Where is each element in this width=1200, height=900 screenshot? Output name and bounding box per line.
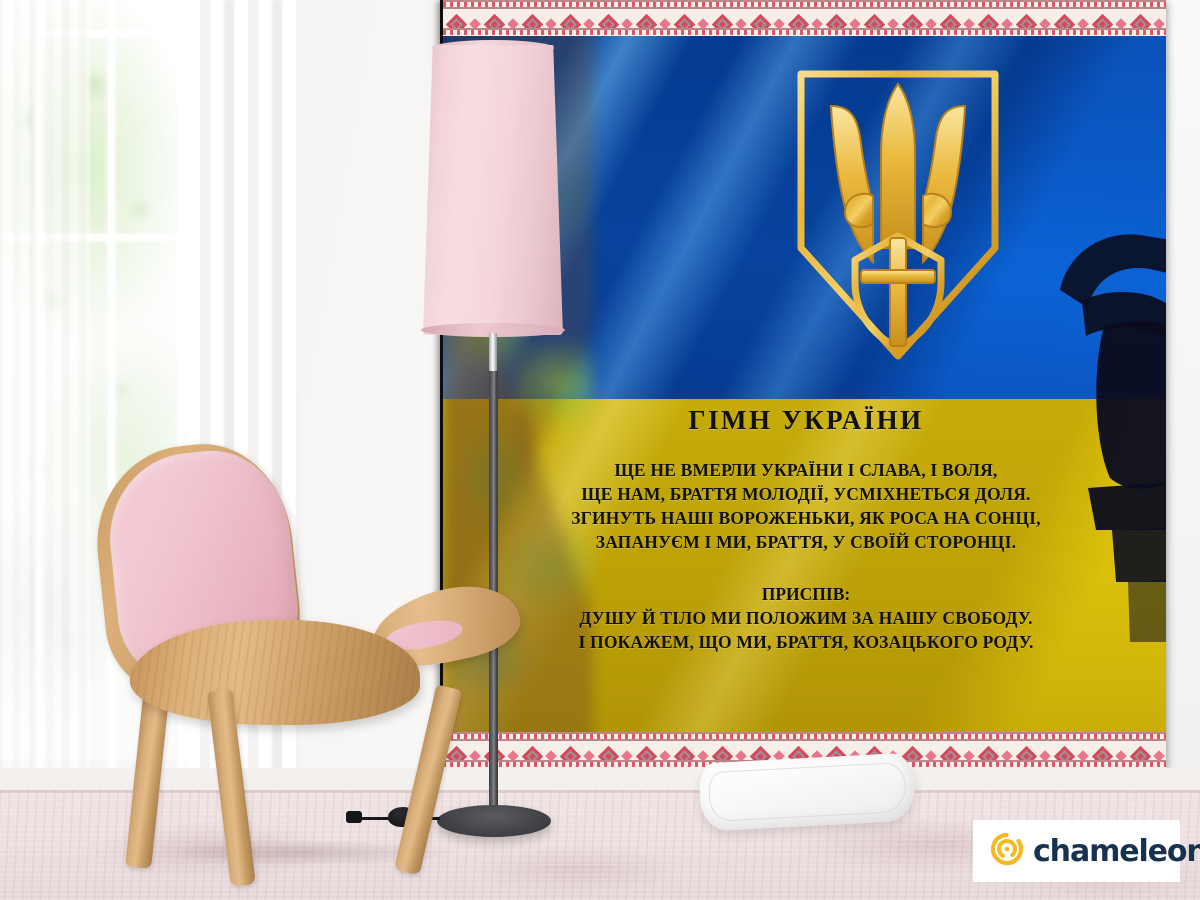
room-scene: ГІМН УКРАЇНИ ЩЕ НЕ ВМЕРЛИ УКРАЇНИ І СЛАВ…: [0, 0, 1200, 900]
trident-left-prong: [831, 106, 873, 262]
wall-strip-right: [1163, 0, 1200, 820]
vysh-diamond-row: [443, 8, 1166, 28]
vyshyvanka-border-top: [443, 0, 1166, 36]
trident-left-ring: [845, 194, 873, 227]
trident-right-prong: [923, 106, 965, 262]
white-floor-pillow: [700, 758, 915, 826]
trident-center-prong: [881, 84, 915, 248]
lamp-stem-chrome: [489, 333, 497, 373]
lamp-shade: [423, 45, 563, 335]
trident-svg: [773, 66, 1023, 366]
vysh-stripe-bottom: [443, 30, 1166, 35]
pillow-seam: [708, 762, 907, 822]
chameleon-logo[interactable]: chameleon: [973, 820, 1180, 882]
sheer-curtain-left: [0, 0, 90, 800]
spiral-svg: [990, 832, 1024, 866]
chameleon-spiral-icon: [990, 832, 1024, 871]
trident-crossbar: [861, 270, 935, 283]
dark-cossack-silhouette: [1042, 230, 1166, 650]
ukrainian-trident-coat-of-arms: [773, 66, 1023, 366]
pink-shell-lounge-chair: [85, 440, 515, 860]
silhouette-svg: [1042, 230, 1166, 650]
chameleon-logo-text: chameleon: [1033, 834, 1200, 869]
trident-center-stem: [890, 238, 906, 346]
trident-right-ring: [923, 194, 951, 227]
